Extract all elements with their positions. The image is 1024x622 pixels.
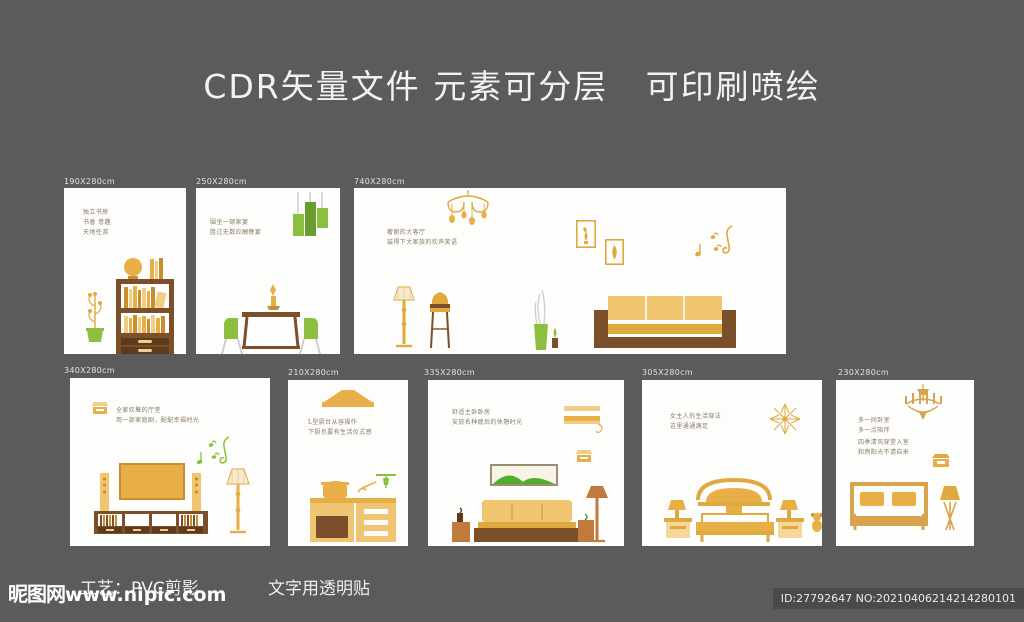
- wall-lamp-icon: [90, 402, 110, 416]
- bookshelf-icon: [116, 256, 174, 354]
- caption-lounge: 全家欢聚的厅堂 用一部家庭剧，配配幸福时光: [116, 406, 199, 426]
- panel-guest-bedroom[interactable]: 多一间卧室 多一点陪伴 四季清风穿堂入室 和煦阳光不请自来: [836, 380, 974, 546]
- transparent-sticker-label: 文字用透明贴: [268, 574, 370, 599]
- panel-lounge[interactable]: 全家欢聚的厅堂 用一部家庭剧，配配幸福时光: [70, 378, 270, 546]
- watermark: 昵图网www.nipic.com: [8, 578, 226, 607]
- bed-icon: [474, 500, 580, 542]
- picture-frame-icon: [576, 220, 596, 248]
- caption-living: 奢丽的大客厅 装得下大家族的欢声笑语: [387, 228, 457, 248]
- landscape-frame-icon: [490, 464, 558, 486]
- tv-console-icon: [92, 464, 218, 536]
- caption-guest-bedroom-2: 四季清风穿堂入室 和煦阳光不请自来: [858, 438, 909, 458]
- bed-icon: [850, 484, 928, 530]
- panel-kitchen[interactable]: L型厨台从容操作 下厨也要有生活仪式感: [288, 380, 408, 546]
- panel-label-kitchen: 210X280cm: [288, 368, 339, 377]
- dining-table-icon: [216, 284, 326, 354]
- table-lamp-icon: [668, 500, 686, 518]
- watermark-name: 昵图网: [8, 582, 65, 606]
- bed-icon: [662, 476, 806, 542]
- panel-label-dining: 250X280cm: [196, 177, 247, 186]
- speaker-icon: [192, 473, 201, 511]
- caption-dining: 围坐一顿家宴 胜过无数应酬晚宴: [210, 218, 261, 238]
- pot-icon: [321, 482, 349, 498]
- id-badge: ID:27792647 NO:20210406214214280101: [773, 588, 1024, 609]
- panel-label-cloakroom: 305X280cm: [642, 368, 693, 377]
- caption-guest-bedroom: 多一间卧室 多一点陪伴: [858, 416, 890, 436]
- caption-master-bedroom: 舒适主卧卧房 安放名种疲后的休憩时光: [452, 408, 522, 428]
- panel-study[interactable]: 独立书房 书香 意趣 天地任游: [64, 188, 186, 354]
- tv-icon: [120, 464, 184, 499]
- starburst-icon: [768, 402, 802, 436]
- globe-icon: [124, 258, 142, 279]
- watermark-url: www.nipic.com: [65, 584, 226, 606]
- panel-master-bedroom[interactable]: 舒适主卧卧房 安放名种疲后的休憩时光: [428, 380, 624, 546]
- potted-plant-icon: [81, 284, 109, 342]
- floor-lamp-icon: [936, 484, 964, 532]
- page-title: CDR矢量文件 元素可分层 可印刷喷绘: [0, 60, 1024, 108]
- panel-dining[interactable]: 围坐一顿家宴 胜过无数应酬晚宴: [196, 188, 340, 354]
- poster-canvas: CDR矢量文件 元素可分层 可印刷喷绘 190X280cm 独立书房 书香 意趣…: [0, 0, 1024, 622]
- range-hood-icon: [318, 390, 378, 412]
- pendant-lamp-icon: [290, 192, 332, 246]
- chandelier-icon: [898, 384, 948, 424]
- panel-label-lounge: 340X280cm: [64, 366, 115, 375]
- caption-kitchen: L型厨台从容操作 下厨也要有生活仪式感: [308, 418, 372, 438]
- nightstand-icon: [452, 508, 472, 542]
- candle-icon: [267, 284, 280, 310]
- teddy-icon: [810, 512, 822, 532]
- chandelier-icon: [442, 190, 494, 230]
- floor-lamp-icon: [390, 284, 418, 350]
- picture-frame-icon: [605, 239, 624, 265]
- chair-icon: [300, 318, 320, 354]
- panel-living[interactable]: 奢丽的大客厅 装得下大家族的欢声笑语: [354, 188, 786, 354]
- cabinet-icon: [310, 476, 396, 542]
- wall-lamp-icon: [574, 450, 594, 464]
- chair-icon: [222, 318, 242, 354]
- nightstand-icon: [664, 500, 692, 538]
- sofa-icon: [594, 296, 736, 348]
- gramophone-icon: [426, 288, 454, 350]
- panel-label-master-bedroom: 335X280cm: [424, 368, 475, 377]
- table-lamp-icon: [780, 500, 798, 518]
- nightstand-icon: [578, 514, 596, 542]
- music-note-icon: [694, 224, 738, 258]
- panel-label-guest-bedroom: 230X280cm: [838, 368, 889, 377]
- wall-lamp-icon: [930, 454, 952, 470]
- speaker-icon: [100, 473, 109, 511]
- window-blind-icon: [564, 406, 606, 432]
- caption-study: 独立书房 书香 意趣 天地任游: [83, 208, 111, 238]
- panel-label-living: 740X280cm: [354, 177, 405, 186]
- floor-lamp-icon: [224, 466, 252, 536]
- caption-cloakroom: 女主人的生活穿法 这里通通满足: [670, 412, 721, 432]
- panel-cloakroom[interactable]: 女主人的生活穿法 这里通通满足: [642, 380, 822, 546]
- panel-label-study: 190X280cm: [64, 177, 115, 186]
- nightstand-icon: [776, 500, 804, 538]
- vase-icon: [530, 280, 564, 350]
